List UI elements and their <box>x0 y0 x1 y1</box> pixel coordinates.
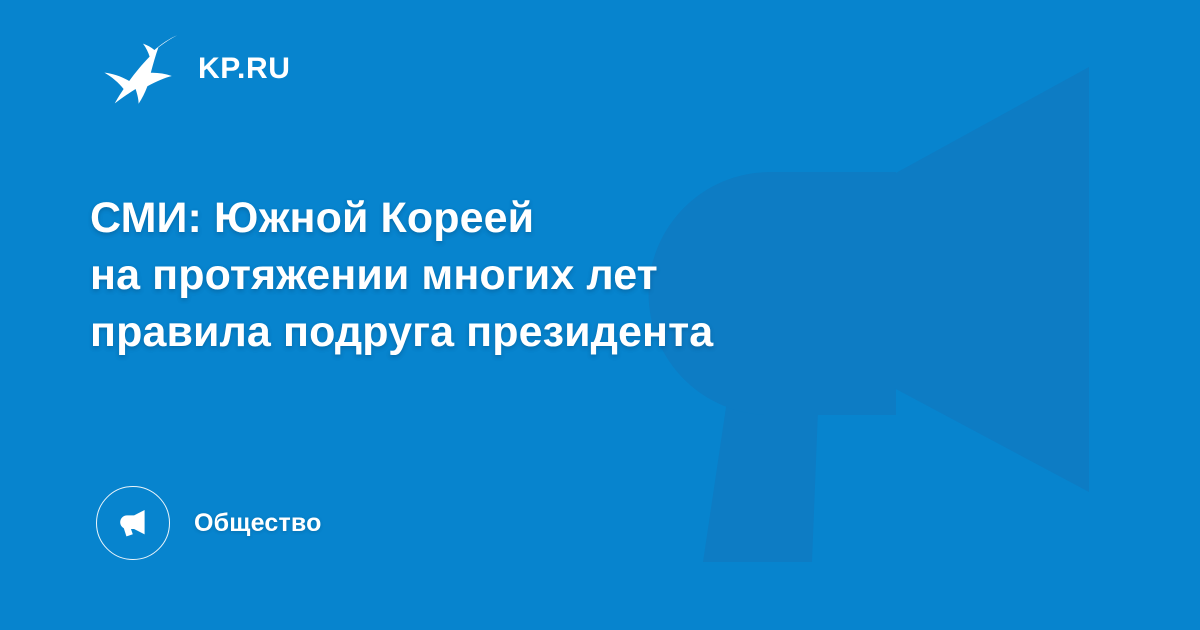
page-title: СМИ: Южной Кореей на протяжении многих л… <box>90 190 970 361</box>
swallow-bird-icon <box>104 34 178 104</box>
headline-line-3: правила подруга президента <box>90 304 970 361</box>
brand-name: KP.RU <box>198 54 290 84</box>
category-badge-group[interactable]: Общество <box>96 486 322 560</box>
headline-line-2: на протяжении многих лет <box>90 247 970 304</box>
brand-header[interactable]: KP.RU <box>104 33 290 105</box>
article-share-card: KP.RU СМИ: Южной Кореей на протяжении мн… <box>0 0 1200 630</box>
category-label: Общество <box>194 511 322 536</box>
category-icon-circle[interactable] <box>96 486 170 560</box>
headline-line-1: СМИ: Южной Кореей <box>90 190 970 247</box>
megaphone-icon <box>113 503 153 543</box>
